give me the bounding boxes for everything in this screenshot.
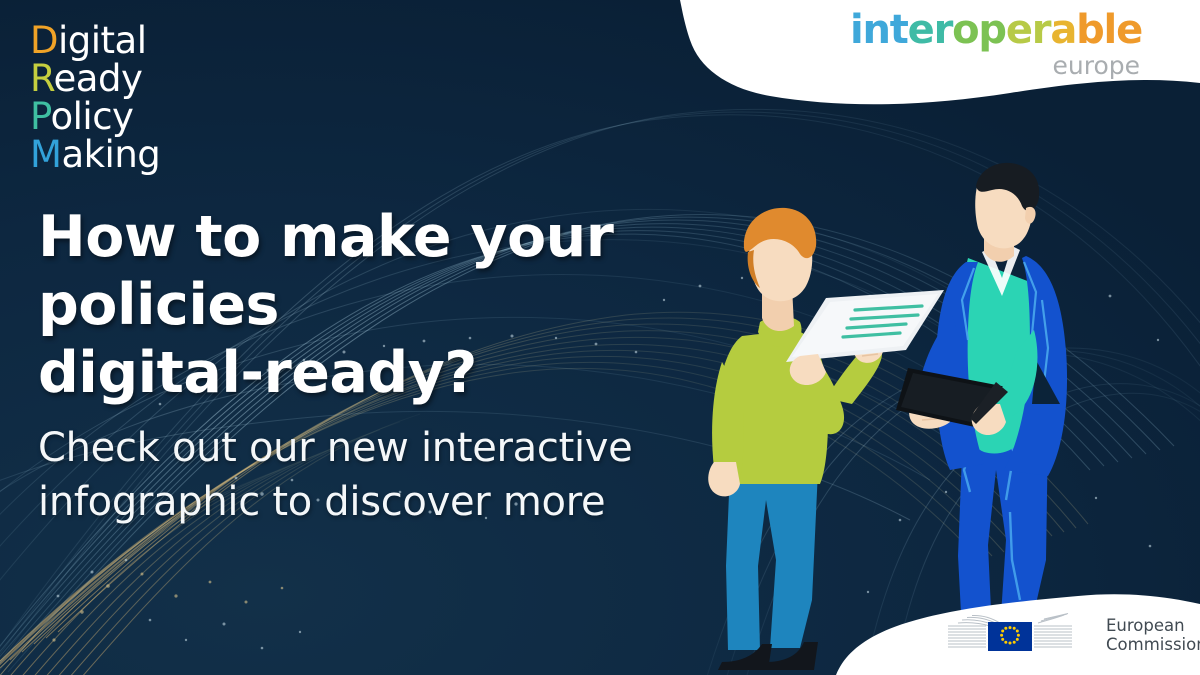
interoperable-wordmark: interoperable <box>850 8 1142 52</box>
interoperable-subtitle: europe <box>850 53 1140 79</box>
promotional-banner: Digital Ready Policy Making How to make … <box>0 0 1200 675</box>
ec-emblem <box>946 612 1096 658</box>
io-part-er2: er <box>1006 7 1050 53</box>
ec-text-line-2: Commission <box>1106 635 1200 654</box>
white-curve-shapes <box>0 0 1200 675</box>
european-commission-logo: European Commission <box>946 612 1200 658</box>
io-part-op: op <box>952 7 1006 53</box>
ec-text-block: European Commission <box>1106 616 1200 654</box>
io-part-ble: ble <box>1076 7 1142 53</box>
ec-text-line-1: European <box>1106 616 1200 635</box>
io-part-int: int <box>850 7 908 53</box>
interoperable-europe-logo: interoperable europe <box>850 8 1142 79</box>
io-part-er1: er <box>908 7 952 53</box>
io-part-a: a <box>1050 7 1076 53</box>
